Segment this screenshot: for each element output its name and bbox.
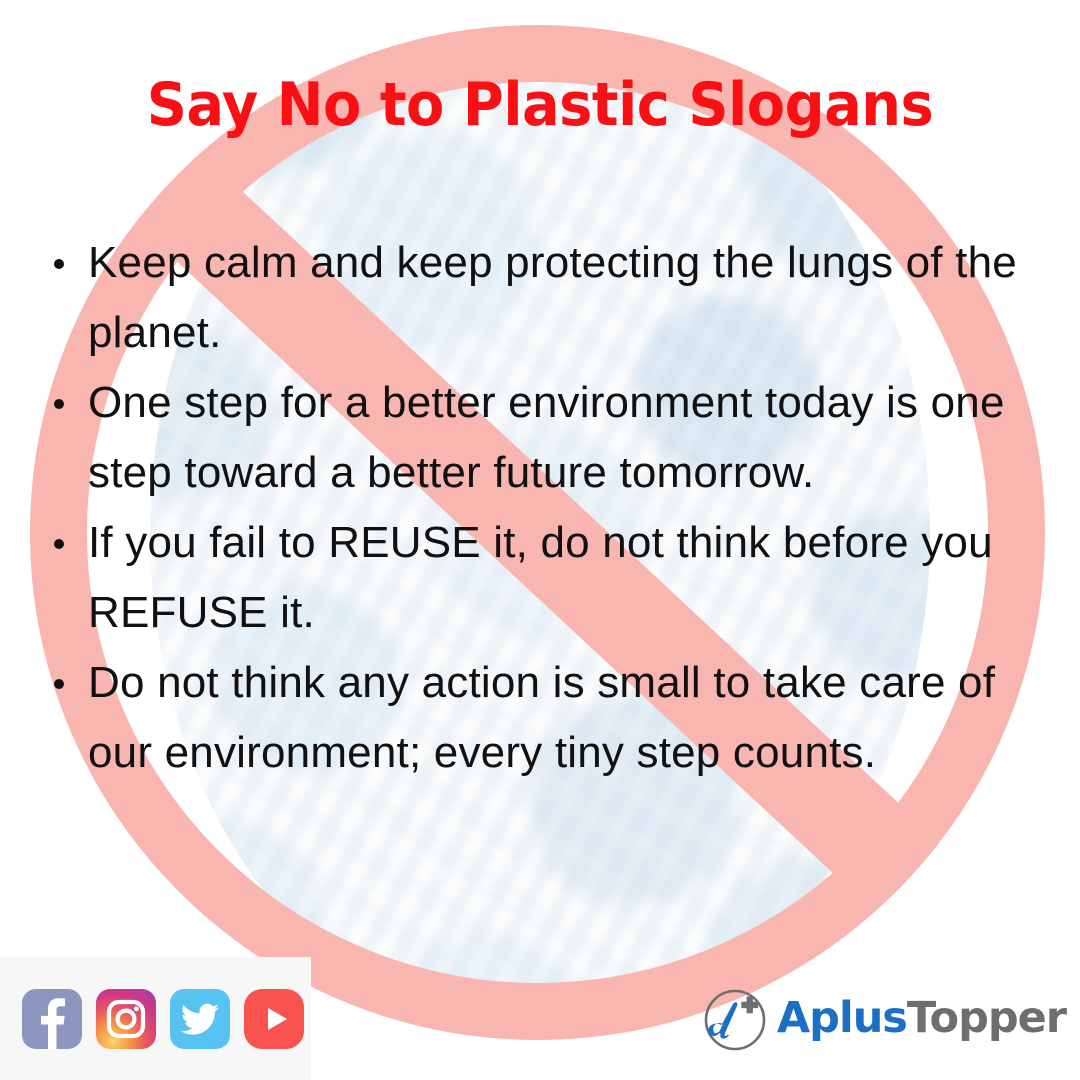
list-item: One step for a better environment today … [48,368,1058,508]
aplus-mark-icon [697,982,775,1054]
page-title: Say No to Plastic Slogans [38,70,1042,140]
slogan-list: Keep calm and keep protecting the lungs … [48,228,1058,788]
list-item: Do not think any action is small to take… [48,648,1058,788]
slogan-text: Do not think any action is small to take… [88,658,995,777]
bullet-dot-icon [54,399,64,409]
bullet-dot-icon [54,539,64,549]
twitter-icon[interactable] [170,989,230,1049]
brand-name-secondary: Topper [907,993,1066,1043]
list-item: Keep calm and keep protecting the lungs … [48,228,1058,368]
brand-name-primary: Aplus [777,993,907,1043]
poster-canvas: Say No to Plastic Slogans Keep calm and … [0,0,1080,1080]
youtube-icon[interactable] [244,989,304,1049]
slogan-text: One step for a better environment today … [88,378,1005,497]
aplustopper-logo[interactable]: AplusTopper [697,982,1066,1054]
social-bar [22,989,304,1049]
bullet-dot-icon [54,679,64,689]
bullet-dot-icon [54,259,64,269]
slogan-text: If you fail to REUSE it, do not think be… [88,518,993,637]
list-item: If you fail to REUSE it, do not think be… [48,508,1058,648]
slogan-text: Keep calm and keep protecting the lungs … [88,238,1017,357]
facebook-icon[interactable] [22,989,82,1049]
instagram-icon[interactable] [96,989,156,1049]
